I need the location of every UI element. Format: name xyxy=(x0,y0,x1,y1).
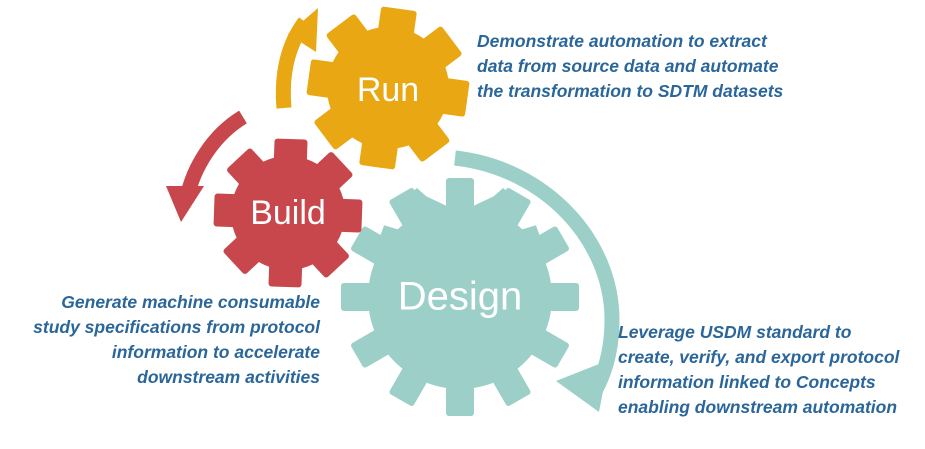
gear-design-label: Design xyxy=(398,275,523,319)
gear-run[interactable]: Run xyxy=(298,0,479,178)
callout-design-text: Leverage USDM standard to create, verify… xyxy=(618,320,918,419)
gear-design[interactable]: Design xyxy=(341,178,579,416)
callout-run-text: Demonstrate automation to extract data f… xyxy=(477,29,817,104)
gear-build-label: Build xyxy=(250,194,326,232)
gear-run-label: Run xyxy=(357,71,419,109)
callout-build-text: Generate machine consumable study specif… xyxy=(16,290,320,389)
process-cycle-diagram: Design Run xyxy=(0,0,925,449)
gear-build[interactable]: Build xyxy=(211,136,364,289)
